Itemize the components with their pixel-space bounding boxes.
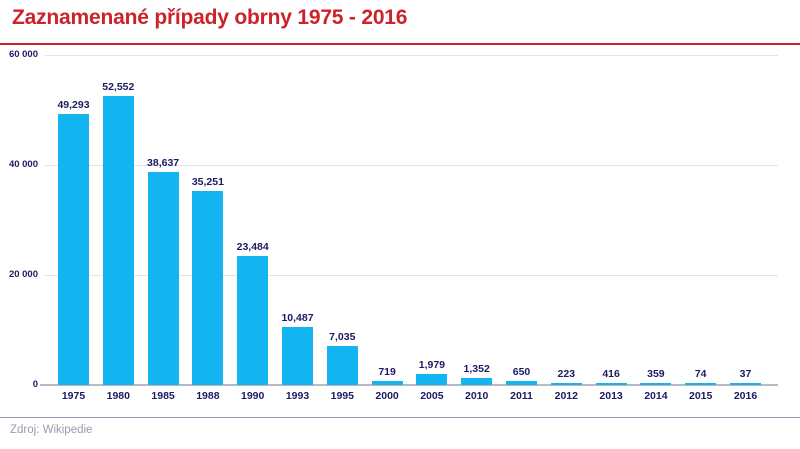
bar-value-label-1990: 23,484 bbox=[227, 241, 278, 253]
bar-value-label-2010: 1,352 bbox=[451, 363, 502, 375]
y-axis-tick-label: 20 000 bbox=[0, 269, 38, 280]
bar-2012[interactable] bbox=[551, 383, 582, 385]
x-axis-tick-label-2016: 2016 bbox=[720, 390, 771, 402]
chart-page: Zaznamenané případy obrny 1975 - 2016 02… bbox=[0, 0, 800, 449]
bar-1988[interactable] bbox=[192, 191, 223, 385]
bar-1993[interactable] bbox=[282, 327, 313, 385]
bar-2016[interactable] bbox=[730, 383, 761, 385]
x-axis-tick-label-2012: 2012 bbox=[541, 390, 592, 402]
bar-2014[interactable] bbox=[640, 383, 671, 385]
bar-value-label-1995: 7,035 bbox=[317, 331, 368, 343]
bar-value-label-1993: 10,487 bbox=[272, 312, 323, 324]
bar-value-label-2014: 359 bbox=[630, 368, 681, 380]
x-axis-tick-label-2015: 2015 bbox=[675, 390, 726, 402]
source-label: Zdroj: Wikipedie bbox=[10, 424, 92, 436]
x-axis-tick-label-1985: 1985 bbox=[138, 390, 189, 402]
y-axis-tick-label: 0 bbox=[0, 379, 38, 390]
bar-value-label-2000: 719 bbox=[362, 366, 413, 378]
x-axis-tick-label-2011: 2011 bbox=[496, 390, 547, 402]
bar-1975[interactable] bbox=[58, 114, 89, 385]
bar-value-label-2012: 223 bbox=[541, 368, 592, 380]
bar-2010[interactable] bbox=[461, 378, 492, 385]
bar-value-label-1988: 35,251 bbox=[182, 176, 233, 188]
bar-2000[interactable] bbox=[372, 381, 403, 385]
gridline-60000 bbox=[45, 55, 778, 56]
bar-chart-plot: 020 00040 00060 00049,293197552,55219803… bbox=[0, 0, 800, 449]
x-axis-tick-label-2010: 2010 bbox=[451, 390, 502, 402]
x-axis-tick-label-2013: 2013 bbox=[586, 390, 637, 402]
bar-value-label-2015: 74 bbox=[675, 368, 726, 380]
bar-1990[interactable] bbox=[237, 256, 268, 385]
bar-value-label-2013: 416 bbox=[586, 368, 637, 380]
y-axis-tick-label: 60 000 bbox=[0, 49, 38, 60]
bar-value-label-2005: 1,979 bbox=[406, 359, 457, 371]
y-axis-tick-label: 40 000 bbox=[0, 159, 38, 170]
bar-value-label-1980: 52,552 bbox=[93, 81, 144, 93]
bar-1980[interactable] bbox=[103, 96, 134, 385]
x-axis-tick-label-2014: 2014 bbox=[630, 390, 681, 402]
bar-1985[interactable] bbox=[148, 172, 179, 385]
x-axis-tick-label-1990: 1990 bbox=[227, 390, 278, 402]
bar-1995[interactable] bbox=[327, 346, 358, 385]
bar-value-label-1985: 38,637 bbox=[138, 157, 189, 169]
bar-2005[interactable] bbox=[416, 374, 447, 385]
bar-2013[interactable] bbox=[596, 383, 627, 385]
x-axis-tick-label-1975: 1975 bbox=[48, 390, 99, 402]
bar-value-label-1975: 49,293 bbox=[48, 99, 99, 111]
bar-value-label-2011: 650 bbox=[496, 366, 547, 378]
bar-2015[interactable] bbox=[685, 383, 716, 385]
footer-divider bbox=[0, 417, 800, 418]
bar-value-label-2016: 37 bbox=[720, 368, 771, 380]
bar-2011[interactable] bbox=[506, 381, 537, 385]
x-axis-tick-label-1988: 1988 bbox=[182, 390, 233, 402]
x-axis-tick-label-1995: 1995 bbox=[317, 390, 368, 402]
x-axis-tick-label-2005: 2005 bbox=[406, 390, 457, 402]
x-axis-tick-label-1993: 1993 bbox=[272, 390, 323, 402]
x-axis-tick-label-2000: 2000 bbox=[362, 390, 413, 402]
x-axis-tick-label-1980: 1980 bbox=[93, 390, 144, 402]
